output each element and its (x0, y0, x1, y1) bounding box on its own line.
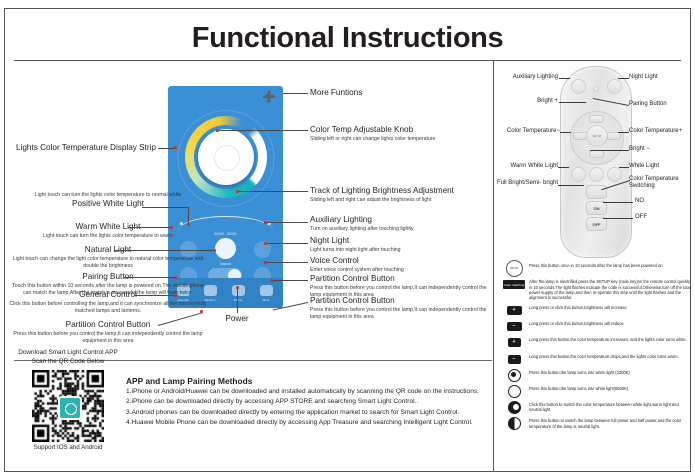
leader-line (134, 295, 176, 296)
callout-desc: Light touch can change the light color t… (8, 256, 208, 270)
legend-row: + Long press this button,the color tempe… (503, 336, 691, 349)
qr-center-logo-icon (58, 396, 82, 420)
legend-row: Press this button to switch the lamp bet… (503, 417, 691, 430)
remote-label-no: NO (635, 198, 675, 205)
callout-desc: Enter voice control system after touchin… (310, 267, 490, 274)
callout-partition-control-b: Partition Control Button Press this butt… (310, 296, 490, 321)
remote-legend-list: SETUP Press this button once in 10 secon… (503, 262, 691, 433)
anchor-dot (170, 226, 173, 229)
remote-color-temp-switch-button[interactable] (589, 167, 604, 182)
remote-white-light-button[interactable] (607, 167, 622, 182)
leader-line (559, 102, 586, 103)
callout-natural-light: Natural Light Light touch can change the… (8, 245, 208, 270)
callout-brightness-track: Track of Lighting Brightness Adjustment … (310, 186, 490, 204)
color-temp-switch-glyph (508, 401, 521, 414)
leader-line (115, 250, 215, 251)
callout-title: Warm White Light (8, 222, 208, 233)
color-temp-knob[interactable] (185, 116, 267, 198)
natural-light-button[interactable] (215, 238, 236, 259)
callout-desc: Press this button before you control the… (8, 331, 208, 345)
callout-desc: Press this button before you control the… (310, 307, 490, 321)
title-divider (14, 60, 681, 61)
leader-line (603, 202, 633, 203)
legend-row: + Long press or click this button,bright… (503, 304, 691, 317)
remote-label-auxiliary-lighting: Auxiliary Lighting (500, 74, 558, 81)
remote-indicator-led-icon (593, 86, 599, 92)
callout-title: Lights Color Temperature Display Strip (6, 143, 156, 154)
legend-text: After the lamp is electrified,press the … (529, 278, 691, 301)
remote-label-bright-up: Bright + (500, 98, 558, 105)
remote-full-half-bright-button[interactable] (586, 185, 607, 199)
bright-up-glyph: + (507, 306, 522, 315)
remote-auxiliary-lighting-button[interactable] (571, 79, 586, 94)
callout-warm-white: Warm White Light Light touch can turn th… (8, 222, 208, 240)
leader-line (142, 207, 189, 208)
app-pairing-item: 4.Huawei Mobile Phone can be downloaded … (126, 419, 486, 428)
leader-line (266, 243, 308, 244)
legend-row: Press this button,the lamp turns into wh… (503, 385, 691, 398)
legend-text: Long press or click this button,brightne… (529, 320, 691, 326)
bright-down-icon: − (503, 320, 525, 333)
white-light-glyph (508, 385, 521, 398)
setup-label: SETUP (593, 135, 602, 138)
callout-voice-control: Voice Control Enter voice control system… (310, 256, 490, 274)
legend-row: − Long press or click this button,bright… (503, 320, 691, 333)
setup-circle-icon: SETUP (506, 260, 523, 277)
legend-row: Click this button to switch the color te… (503, 401, 691, 414)
anchor-dot (264, 221, 267, 224)
night-light-icon[interactable] (260, 285, 273, 296)
leader-line (218, 130, 308, 131)
remote-warm-white-light-button[interactable] (571, 167, 586, 182)
qr-heading-line1: Download Smart Light Control APP (18, 348, 118, 357)
off-label: OFF (593, 222, 601, 227)
remote-bright-up-button[interactable] (589, 115, 604, 123)
callout-power: Power (207, 314, 267, 325)
page-title: Functional Instructions (0, 22, 695, 55)
remote-off-button[interactable]: OFF (586, 217, 607, 231)
legend-row: − Long press this button,the color tempe… (503, 353, 691, 366)
callout-desc: Sliding left or right can change lights … (310, 136, 490, 143)
legend-text: Press this button,the lamp turns into wa… (529, 369, 691, 375)
remote-pairing-setup-button[interactable]: SETUP (586, 125, 608, 147)
leader-line (558, 167, 569, 168)
legend-text: Press this button once in 10 seconds aft… (529, 262, 691, 268)
warm-light-icon (503, 369, 525, 382)
callout-title: Partition Control Button (310, 296, 490, 307)
icon-glyph: + (513, 308, 516, 313)
remote-label-color-temp-switching: Color Temperature Switching (629, 176, 691, 191)
callout-partition-control-left: Partition Control Button Press this butt… (8, 320, 208, 345)
callout-color-temp-knob: Color Temp Adjustable Knob Sliding left … (310, 125, 490, 143)
app-pairing-item: 3.Android phones can be downloaded direc… (126, 409, 486, 418)
callout-title: Auxiliary Lighting (310, 215, 490, 226)
anchor-dot (264, 261, 267, 264)
more-functions-icon[interactable]: ➕ (262, 92, 276, 103)
leader-line (590, 150, 629, 151)
remote-night-light-button[interactable] (607, 79, 622, 94)
app-pairing-item: 2.iPhone can be downloaded directly by a… (126, 398, 486, 407)
callout-desc: Light turns into night light after touch… (310, 247, 490, 254)
remote-label-pairing-button: Pairing Button (629, 101, 693, 108)
setup-button-icon: SETUP (503, 262, 525, 275)
on-label: ON (594, 206, 600, 211)
bright-down-glyph: − (507, 322, 522, 331)
half-power-glyph (508, 417, 521, 430)
callout-title: More Funtions (310, 88, 490, 99)
code-matching-icon: Code matching (503, 278, 525, 291)
legend-row: Press this button,the lamp turns into wa… (503, 369, 691, 382)
color-temp-switch-icon (503, 401, 525, 414)
callout-desc: Click this button before controlling the… (8, 301, 208, 315)
anchor-dot (174, 294, 177, 297)
anchor-dot (213, 249, 216, 252)
anchor-dot (270, 279, 273, 282)
remote-label-color-temp-up: Color Temperature+ (629, 128, 695, 135)
remote-label-full-half-bright: Full Bright/Semi- bright (493, 180, 558, 187)
color-temp-down-icon: − (503, 353, 525, 366)
callout-desc: Light touch can turn the lights color te… (8, 192, 208, 199)
legend-text: Press this button,the lamp turns into wh… (529, 385, 691, 391)
remote-label-bright-down: Bright − (629, 146, 689, 153)
leader-line (238, 191, 308, 192)
callout-title: Pairing Button (8, 272, 208, 283)
nav-label-scene: Scene (226, 298, 250, 302)
callout-partition-control-a: Partition Control Button Press this butt… (310, 274, 490, 299)
anchor-dot (236, 286, 239, 289)
icon-glyph: − (513, 324, 516, 329)
callout-desc: Light touch can turn the lights color te… (8, 233, 208, 240)
leader-line (619, 167, 629, 168)
setup-label: SETUP (510, 267, 518, 270)
legend-text: Click this button to switch the color te… (529, 401, 691, 413)
anchor-dot (174, 276, 177, 279)
remote-label-off: OFF (635, 214, 675, 221)
qr-caption: Support IOS and Android (18, 444, 118, 451)
leader-line (237, 289, 238, 313)
leader-line (603, 218, 633, 219)
remote-label-white-light: White Light (629, 163, 689, 170)
legend-row: SETUP Press this button once in 10 secon… (503, 262, 691, 275)
column-divider (493, 61, 494, 471)
color-temp-down-glyph: − (508, 355, 521, 364)
callout-night-light: Night Light Light turns into night light… (310, 236, 490, 254)
callout-title: Color Temp Adjustable Knob (310, 125, 490, 136)
leader-line (266, 222, 308, 223)
callout-more-functions: More Funtions (310, 88, 490, 99)
app-pairing-item: 1.iPhone or Android/Huawei can be downlo… (126, 388, 486, 397)
legend-row: Code matching After the lamp is electrif… (503, 278, 691, 301)
anchor-dot (236, 190, 239, 193)
code-matching-label: Code matching (503, 280, 525, 289)
callout-title: General Control (8, 290, 208, 301)
callout-general-control: General Control Click this button before… (8, 290, 208, 315)
callout-title: Partition Control Button (310, 274, 490, 285)
legend-text: Long press this button,the color tempera… (529, 336, 691, 342)
instruction-sheet: Functional Instructions ➕ 3000K - 6500K … (0, 0, 695, 476)
remote-control-body: SETUP ON OFF (560, 66, 632, 258)
half-power-icon (503, 417, 525, 430)
legend-text: Long press this button,the color tempera… (529, 353, 691, 359)
qr-section: Download Smart Light Control APP Scan th… (18, 348, 118, 451)
icon-glyph: − (513, 357, 516, 362)
legend-text: Press this button to switch the lamp bet… (529, 417, 691, 429)
icon-glyph: + (513, 340, 516, 345)
remote-label-night-light: Night Light (629, 74, 691, 81)
leader-line (559, 78, 570, 79)
callout-display-strip: Lights Color Temperature Display Strip (6, 143, 156, 154)
remote-bright-down-button[interactable] (589, 150, 604, 158)
qr-code (32, 370, 104, 442)
callout-desc: Turn on auxiliary lighting after touchin… (310, 226, 490, 233)
remote-label-color-temp-down: Color Temperature− (498, 128, 560, 135)
app-pairing-section: APP and Lamp Pairing Methods 1.iPhone or… (126, 376, 486, 429)
anchor-dot (216, 129, 219, 132)
app-pairing-heading: APP and Lamp Pairing Methods (126, 376, 486, 386)
callout-title: Track of Lighting Brightness Adjustment (310, 186, 490, 197)
white-light-icon (503, 385, 525, 398)
callout-desc: Sliding left and right can adjust the br… (310, 197, 490, 204)
callout-title: Voice Control (310, 256, 490, 267)
remote-on-button[interactable]: ON (586, 201, 607, 215)
color-temp-up-icon: + (503, 336, 525, 349)
callout-title: Partition Control Button (8, 320, 208, 331)
leader-line (272, 280, 308, 281)
leader-line (128, 227, 172, 228)
leader-line (266, 262, 308, 263)
legend-text: Long press or click this button,brightne… (529, 304, 691, 310)
leader-line (558, 185, 584, 186)
qr-heading-line2: Scan the QR Code Below (18, 357, 118, 366)
callout-title: Positive White Light (8, 199, 208, 210)
remote-color-temp-up-button[interactable] (606, 132, 621, 140)
anchor-dot (264, 242, 267, 245)
leader-line (618, 132, 629, 133)
callout-title: Night Light (310, 236, 490, 247)
warm-light-glyph (508, 369, 521, 382)
knob-face[interactable] (198, 129, 254, 185)
leader-line (283, 93, 308, 94)
callout-auxiliary-lighting: Auxiliary Lighting Turn on auxiliary lig… (310, 215, 490, 233)
leader-line (124, 277, 176, 278)
anchor-dot (174, 146, 177, 149)
remote-label-warm-white: Warm White Light (498, 163, 558, 170)
leader-line (560, 132, 571, 133)
bright-up-icon: + (503, 304, 525, 317)
leader-line (618, 78, 629, 79)
anchor-dot (200, 310, 203, 313)
color-temp-up-glyph: + (508, 338, 521, 347)
nav-label-more: More (254, 298, 278, 302)
